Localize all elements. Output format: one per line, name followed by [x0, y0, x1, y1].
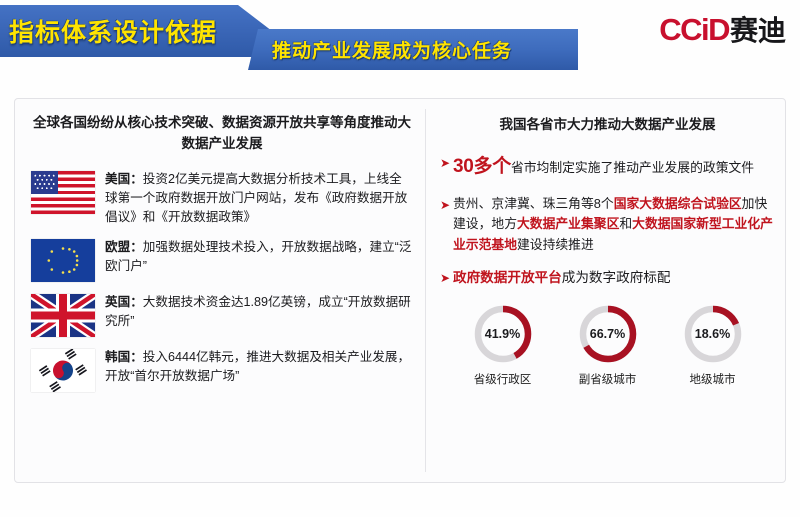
country-name: 美国：: [105, 172, 143, 186]
country-name: 英国：: [105, 295, 143, 309]
bullet-arrow-icon: ➤: [440, 194, 453, 256]
donut-ring: 66.7%: [577, 303, 639, 365]
right-panel: 我国各省市大力推动大数据产业发展 ➤30多个省市均制定实施了推动产业发展的政策文…: [426, 99, 785, 482]
bullet-text-segment: 和: [619, 216, 632, 231]
donut-chart-group: 41.9%省级行政区66.7%副省级城市18.6%地级城市: [440, 303, 775, 387]
country-item: 英国：大数据技术资金达1.89亿英镑，成立“开放数据研究所”: [31, 292, 413, 337]
country-item: 韩国：投入6444亿韩元，推进大数据及相关产业发展，开放“首尔开放数据广场”: [31, 347, 413, 392]
us-flag-canton: [31, 171, 58, 194]
country-item: 美国：投资2亿美元提高大数据分析技术工具，上线全球第一个政府数据开放门户网站，发…: [31, 169, 413, 227]
bullet-text-segment: 大数据产业集聚区: [517, 216, 619, 231]
country-description: 美国：投资2亿美元提高大数据分析技术工具，上线全球第一个政府数据开放门户网站，发…: [105, 169, 413, 227]
donut-chart: 66.7%副省级城市: [577, 303, 639, 387]
bullet-text: 贵州、京津冀、珠三角等8个国家大数据综合试验区加快建设，地方大数据产业集聚区和大…: [453, 194, 775, 256]
country-detail-text: 加强数据处理技术投入，开放数据战略，建立“泛欧门户”: [105, 240, 411, 273]
bullet-text-segment: 30多个: [453, 156, 511, 177]
slide-root: 赛迪智库 面向政府 指标体系设计依据 推动产业发展成为核心任务 CCiD 赛迪 …: [0, 0, 800, 517]
bullet-list: ➤30多个省市均制定实施了推动产业发展的政策文件➤贵州、京津冀、珠三角等8个国家…: [440, 152, 775, 289]
bullet-text-segment: 成为数字政府标配: [562, 270, 671, 285]
donut-chart: 18.6%地级城市: [682, 303, 744, 387]
bullet-item: ➤政府数据开放平台成为数字政府标配: [440, 267, 775, 289]
donut-chart: 41.9%省级行政区: [472, 303, 534, 387]
section-title-text: 指标体系设计依据: [9, 13, 217, 49]
donut-ring: 18.6%: [682, 303, 744, 365]
section-subtitle-banner: 推动产业发展成为核心任务: [248, 29, 578, 70]
uk-flag-icon: [31, 294, 95, 337]
bullet-text: 30多个省市均制定实施了推动产业发展的政策文件: [453, 152, 754, 183]
left-panel-title: 全球各国纷纷从核心技术突破、数据资源开放共享等角度推动大数据产业发展: [31, 113, 413, 155]
bullet-item: ➤30多个省市均制定实施了推动产业发展的政策文件: [440, 152, 775, 183]
bullet-text-segment: 省市均制定实施了推动产业发展的政策文件: [511, 160, 754, 175]
donut-category-label: 省级行政区: [472, 371, 534, 387]
eu-flag-stars: [31, 239, 95, 282]
uk-flag-union-jack: [31, 294, 95, 337]
donut-category-label: 副省级城市: [577, 371, 639, 387]
bullet-text: 政府数据开放平台成为数字政府标配: [453, 267, 671, 289]
bullet-text-segment: 建设持续推进: [517, 237, 594, 252]
country-description: 欧盟：加强数据处理技术投入，开放数据战略，建立“泛欧门户”: [105, 237, 413, 276]
country-list: 美国：投资2亿美元提高大数据分析技术工具，上线全球第一个政府数据开放门户网站，发…: [31, 169, 413, 392]
bullet-arrow-icon: ➤: [440, 152, 453, 183]
bullet-text-segment: 贵州、京津冀、珠三角等8个: [453, 196, 614, 211]
us-flag-icon: [31, 171, 95, 214]
country-name: 欧盟：: [105, 240, 143, 254]
donut-value-label: 66.7%: [577, 303, 639, 365]
section-subtitle-text: 推动产业发展成为核心任务: [272, 36, 512, 63]
donut-ring: 41.9%: [472, 303, 534, 365]
donut-value-label: 41.9%: [472, 303, 534, 365]
right-panel-title: 我国各省市大力推动大数据产业发展: [440, 113, 775, 136]
country-name: 韩国：: [105, 350, 143, 364]
country-item: 欧盟：加强数据处理技术投入，开放数据战略，建立“泛欧门户”: [31, 237, 413, 282]
country-detail-text: 大数据技术资金达1.89亿英镑，成立“开放数据研究所”: [105, 295, 411, 328]
donut-value-label: 18.6%: [682, 303, 744, 365]
content-card: 全球各国纷纷从核心技术突破、数据资源开放共享等角度推动大数据产业发展 美国：投资…: [14, 98, 786, 483]
bullet-arrow-icon: ➤: [440, 267, 453, 289]
country-description: 韩国：投入6444亿韩元，推进大数据及相关产业发展，开放“首尔开放数据广场”: [105, 347, 413, 386]
logo-latin-text: CCiD: [659, 12, 729, 48]
ccid-logo: CCiD 赛迪: [659, 9, 786, 49]
left-panel: 全球各国纷纷从核心技术突破、数据资源开放共享等角度推动大数据产业发展 美国：投资…: [15, 99, 425, 482]
country-detail-text: 投入6444亿韩元，推进大数据及相关产业发展，开放“首尔开放数据广场”: [105, 350, 410, 383]
section-title-banner: 指标体系设计依据: [0, 5, 272, 57]
kr-flag-icon: [31, 349, 95, 392]
bullet-item: ➤贵州、京津冀、珠三角等8个国家大数据综合试验区加快建设，地方大数据产业集聚区和…: [440, 194, 775, 256]
eu-flag-icon: [31, 239, 95, 282]
country-detail-text: 投资2亿美元提高大数据分析技术工具，上线全球第一个政府数据开放门户网站，发布《政…: [105, 172, 407, 224]
bullet-text-segment: 国家大数据综合试验区: [614, 196, 742, 211]
bullet-text-segment: 政府数据开放平台: [453, 270, 562, 285]
donut-category-label: 地级城市: [682, 371, 744, 387]
kr-flag-taeguk: [31, 349, 95, 392]
country-description: 英国：大数据技术资金达1.89亿英镑，成立“开放数据研究所”: [105, 292, 413, 331]
logo-cjk-text: 赛迪: [730, 9, 786, 49]
